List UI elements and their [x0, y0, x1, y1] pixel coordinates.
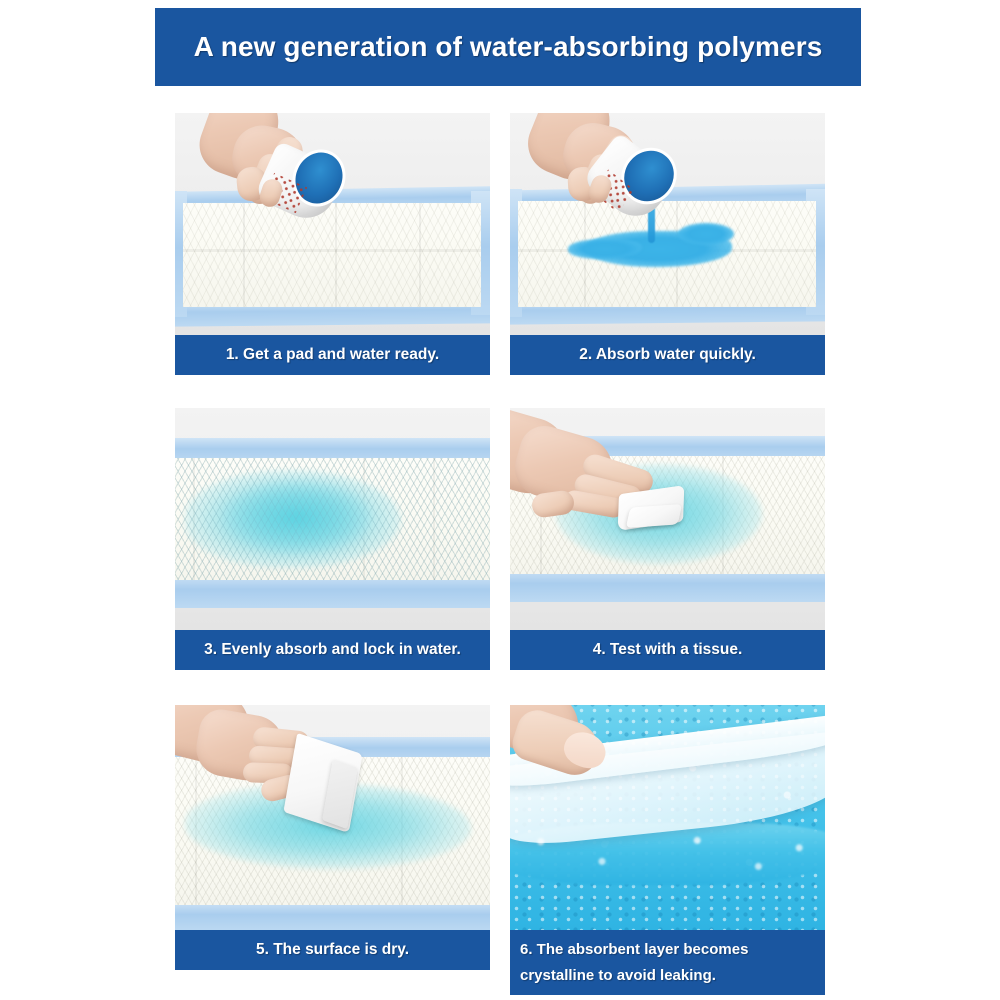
step-panel-6: 6. The absorbent layer becomes crystalli…	[510, 705, 825, 995]
pad-crease-vertical-3	[419, 203, 421, 307]
step-6-caption: 6. The absorbent layer becomes crystalli…	[510, 930, 825, 995]
pad-bottom-edge	[175, 901, 490, 930]
steps-grid: 1. Get a pad and water ready.	[175, 113, 825, 993]
step-panel-1: 1. Get a pad and water ready.	[175, 113, 490, 375]
pad-texture	[183, 203, 481, 307]
step-panel-3: 3. Evenly absorb and lock in water.	[175, 408, 490, 670]
header-banner: A new generation of water-absorbing poly…	[155, 8, 861, 86]
step-6-caption-line-1: 6. The absorbent layer becomes	[520, 937, 815, 963]
step-3-caption: 3. Evenly absorb and lock in water.	[175, 630, 490, 670]
pad-crease-vertical-1	[243, 203, 245, 307]
tissue-paper-fold	[626, 504, 682, 528]
step-1-photo	[175, 113, 490, 335]
pad-crease-horizontal	[183, 249, 481, 252]
page-title: A new generation of water-absorbing poly…	[194, 31, 823, 63]
step-4-photo	[510, 408, 825, 630]
step-6-photo	[510, 705, 825, 930]
water-puddle-splash	[678, 223, 734, 245]
step-4-caption: 4. Test with a tissue.	[510, 630, 825, 670]
step-6-caption-line-2: crystalline to avoid leaking.	[520, 963, 815, 989]
step-5-photo	[175, 705, 490, 930]
step-panel-2: 2. Absorb water quickly.	[510, 113, 825, 375]
step-3-photo	[175, 408, 490, 630]
pad-crease-vertical-3	[433, 458, 435, 580]
step-panel-4: 4. Test with a tissue.	[510, 408, 825, 670]
step-1-caption: 1. Get a pad and water ready.	[175, 335, 490, 375]
step-5-caption: 5. The surface is dry.	[175, 930, 490, 970]
step-panel-5: 5. The surface is dry.	[175, 705, 490, 970]
absorbed-water-stain-core	[223, 480, 371, 554]
pad-crease-vertical-2	[335, 203, 337, 307]
step-2-caption: 2. Absorb water quickly.	[510, 335, 825, 375]
pad-surface	[183, 203, 481, 307]
step-2-photo	[510, 113, 825, 335]
